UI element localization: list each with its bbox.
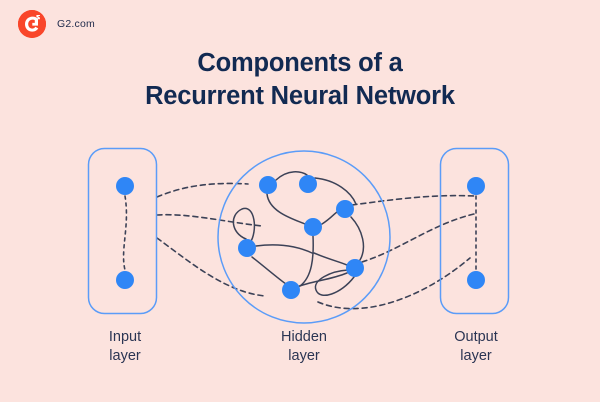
output-layer-label: Output layer [396,328,556,366]
hidden-node [238,239,256,257]
hidden-node [304,218,322,236]
input-layer-box [89,149,157,314]
hidden-layer-label-line-2: layer [224,347,384,366]
output-node [467,177,485,195]
output-layer-label-line-1: Output [396,328,556,347]
infographic-canvas: G2.com Components of a Recurrent Neural … [0,0,600,402]
hidden-edge [297,273,347,287]
input-node [116,271,134,289]
hidden-edge [267,194,305,224]
hidden-edge [300,236,313,286]
hidden-node [346,259,364,277]
interlayer-edge [318,258,470,309]
hidden-edge-self-loop [233,208,254,243]
input-node [116,177,134,195]
hidden-node [336,200,354,218]
input-layer-group [89,149,157,314]
hidden-node [282,281,300,299]
hidden-node [259,176,277,194]
input-layer-label-line-2: layer [45,347,205,366]
interlayer-edge [362,214,474,262]
hidden-edge [314,253,347,265]
hidden-edge [322,212,337,224]
hidden-layer-label-line-1: Hidden [224,328,384,347]
hidden-edge [351,217,363,260]
hidden-edge [256,245,312,253]
output-layer-label-line-2: layer [396,347,556,366]
hidden-layer-group [218,151,390,323]
hidden-edge [252,257,286,284]
hidden-node [299,175,317,193]
hidden-layer-edges [233,172,363,295]
interlayer-edge [157,215,262,226]
interlayer-edge [352,196,474,205]
input-layer-label: Input layer [45,328,205,366]
input-layer-label-line-1: Input [45,328,205,347]
hidden-edge [315,178,356,204]
output-node [467,271,485,289]
hidden-layer-label: Hidden layer [224,328,384,366]
input-layer-internal-edge [124,196,127,270]
output-layer-group [441,149,509,314]
